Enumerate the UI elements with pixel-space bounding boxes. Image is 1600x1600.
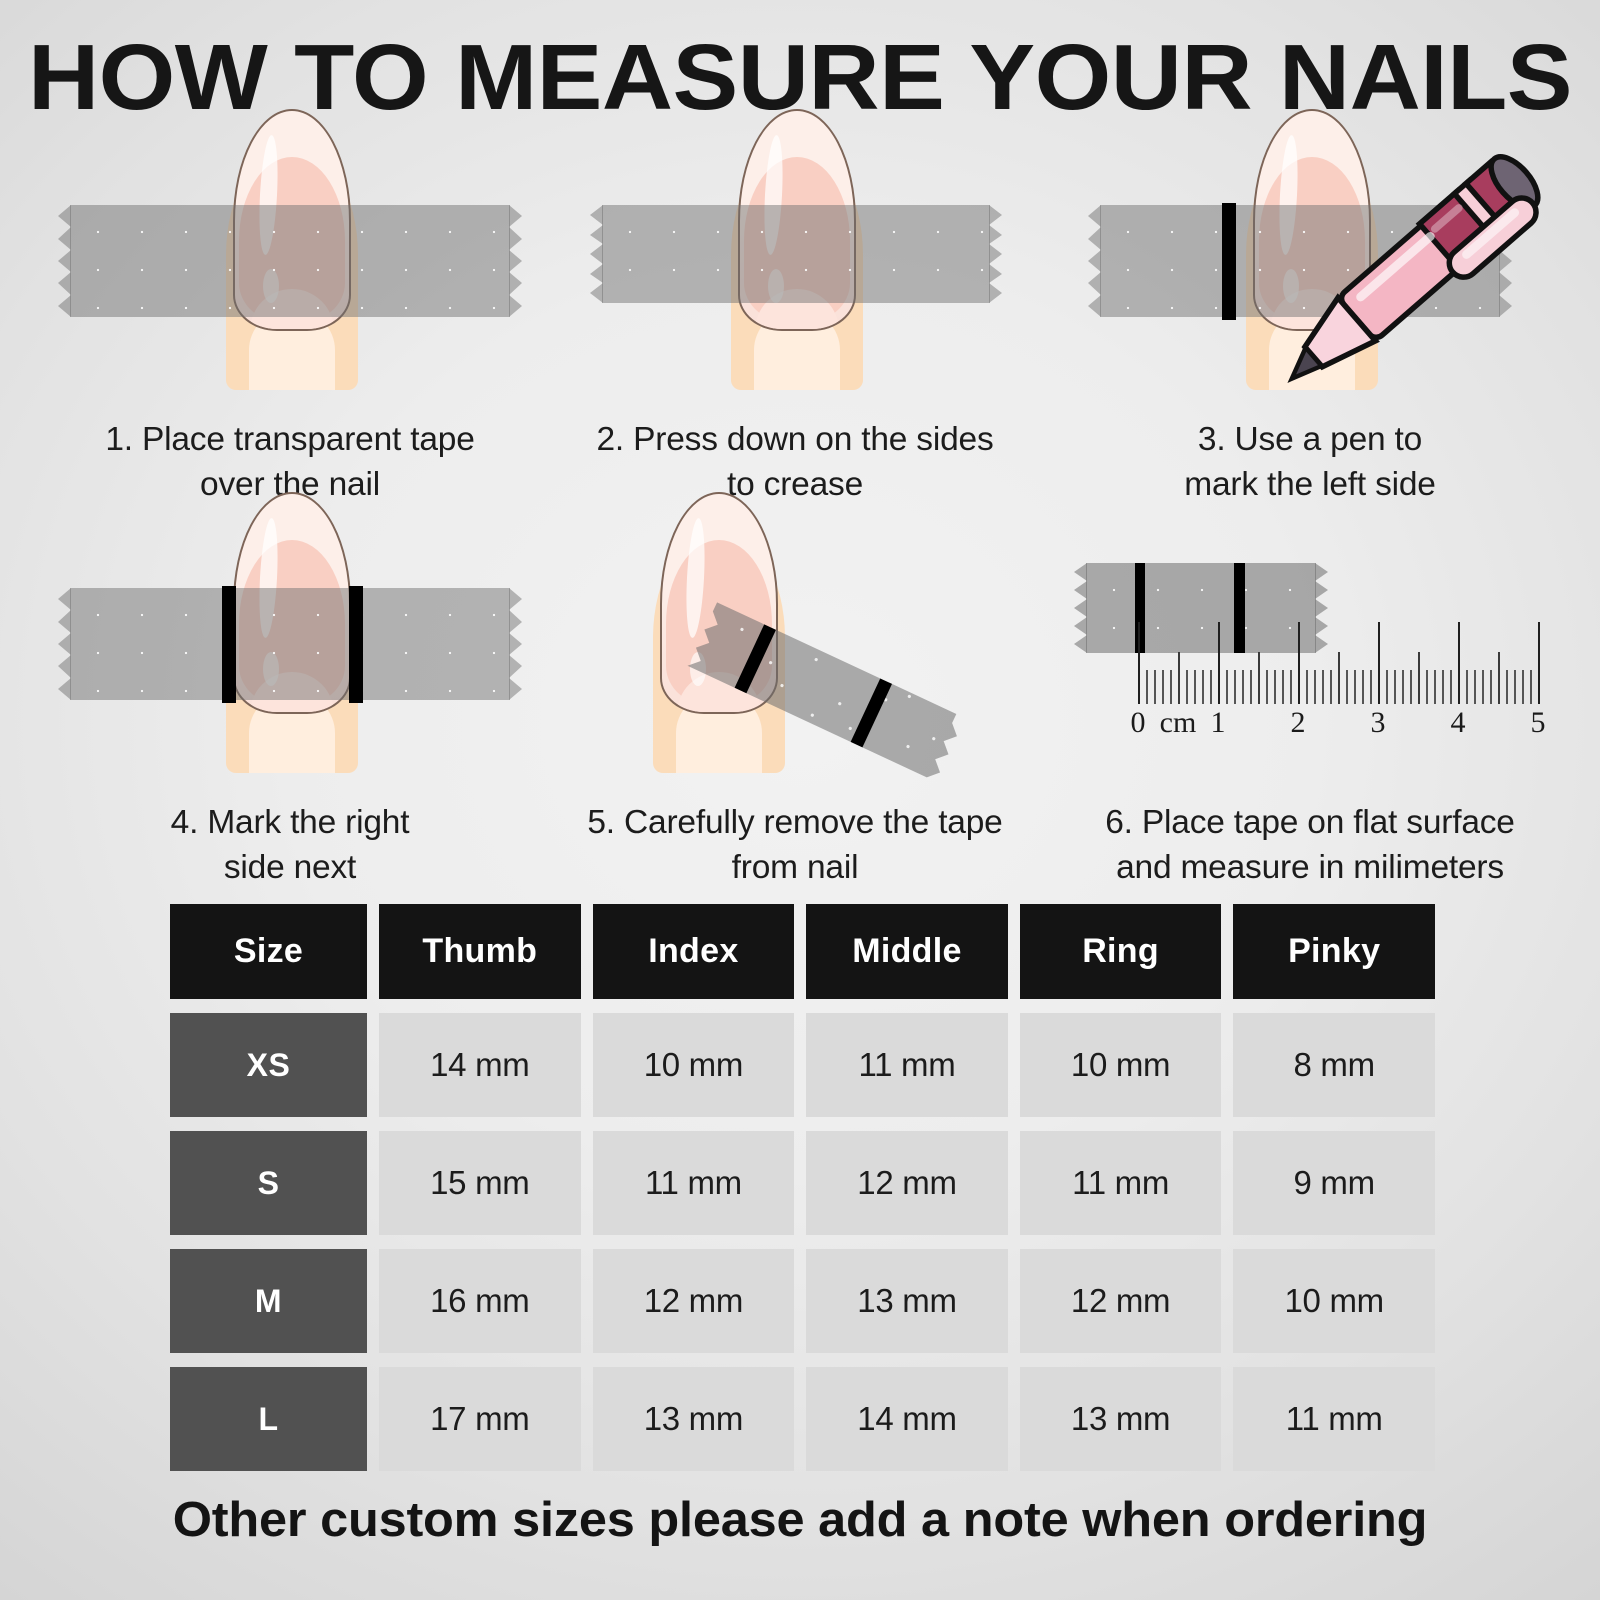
tape-strip — [70, 588, 510, 700]
table-header-index: Index — [593, 904, 795, 999]
ruler-number-3: 3 — [1371, 706, 1386, 740]
cell-m-middle: 13 mm — [806, 1249, 1008, 1353]
ruler-tick — [1514, 670, 1516, 704]
cell-m-index: 12 mm — [593, 1249, 795, 1353]
ruler-tick — [1290, 670, 1292, 704]
pen-mark-left — [222, 586, 236, 703]
ruler-tick — [1426, 670, 1428, 704]
ruler-tick — [1378, 622, 1380, 704]
cell-l-thumb: 17 mm — [379, 1367, 581, 1471]
cell-s-thumb: 15 mm — [379, 1131, 581, 1235]
tape-zigzag-right — [509, 205, 522, 317]
ruler-tick — [1218, 622, 1220, 704]
tape-zigzag-right — [509, 588, 522, 700]
ruler-tick — [1370, 670, 1372, 704]
tape-strip-peeled — [625, 538, 1025, 838]
cell-m-thumb: 16 mm — [379, 1249, 581, 1353]
step-2-illustration — [545, 125, 1045, 415]
step-3-caption: 3. Use a pen tomark the left side — [1060, 417, 1560, 507]
ruler-tick — [1330, 670, 1332, 704]
cell-s-pinky: 9 mm — [1233, 1131, 1435, 1235]
step-3: 3. Use a pen tomark the left side — [1060, 125, 1560, 415]
ruler-tick — [1298, 622, 1300, 704]
cell-s-index: 11 mm — [593, 1131, 795, 1235]
ruler-tick — [1346, 670, 1348, 704]
tape-texture — [602, 205, 990, 303]
step-3-illustration — [1060, 125, 1560, 415]
cell-m-ring: 12 mm — [1020, 1249, 1222, 1353]
ruler-tick — [1506, 670, 1508, 704]
ruler-tick — [1234, 670, 1236, 704]
step-6-caption: 6. Place tape on flat surfaceand measure… — [1060, 800, 1560, 890]
tape-strip-creased — [602, 205, 990, 303]
ruler-tick — [1482, 670, 1484, 704]
ruler-tick — [1154, 670, 1156, 704]
table-header-pinky: Pinky — [1233, 904, 1435, 999]
ruler-unit-label: cm — [1160, 706, 1197, 740]
ruler-ticks — [1138, 622, 1538, 704]
ruler-tick — [1186, 670, 1188, 704]
ruler-number-1: 1 — [1211, 706, 1226, 740]
ruler-tick — [1202, 670, 1204, 704]
tape-body — [687, 602, 965, 781]
ruler-tick — [1306, 670, 1308, 704]
table-row: XS14 mm10 mm11 mm10 mm8 mm — [170, 1013, 1435, 1117]
cell-xs-middle: 11 mm — [806, 1013, 1008, 1117]
table-header-thumb: Thumb — [379, 904, 581, 999]
ruler-tick — [1418, 652, 1420, 704]
ruler-tick — [1250, 670, 1252, 704]
table-header-row: SizeThumbIndexMiddleRingPinky — [170, 904, 1435, 999]
ruler-tick — [1538, 622, 1540, 704]
ruler-tick — [1450, 670, 1452, 704]
cell-xs-pinky: 8 mm — [1233, 1013, 1435, 1117]
ruler-tick — [1266, 670, 1268, 704]
ruler-tick — [1402, 670, 1404, 704]
ruler-tick — [1162, 670, 1164, 704]
tape-zigzag-left — [1074, 563, 1087, 653]
step-5-illustration — [545, 508, 1045, 798]
step-1: 1. Place transparent tapeover the nail — [40, 125, 540, 415]
step-5-caption: 5. Carefully remove the tapefrom nail — [545, 800, 1045, 890]
ruler-tick — [1138, 622, 1140, 704]
ruler-tick — [1490, 670, 1492, 704]
pen-icon — [1238, 117, 1568, 447]
ruler-tick — [1210, 670, 1212, 704]
ruler-tick — [1338, 652, 1340, 704]
step-6: 012345cm 6. Place tape on flat surfacean… — [1060, 508, 1560, 798]
ruler-tick — [1386, 670, 1388, 704]
table-row: M16 mm12 mm13 mm12 mm10 mm — [170, 1249, 1435, 1353]
ruler-tick — [1442, 670, 1444, 704]
ruler-tick — [1274, 670, 1276, 704]
step-4: 4. Mark the rightside next — [40, 508, 540, 798]
step-6-illustration: 012345cm — [1060, 508, 1560, 798]
step-1-illustration — [40, 125, 540, 415]
tape-strip — [70, 205, 510, 317]
ruler-tick — [1194, 670, 1196, 704]
size-label-l: L — [170, 1367, 367, 1471]
ruler-tick — [1498, 652, 1500, 704]
cell-l-pinky: 11 mm — [1233, 1367, 1435, 1471]
ruler-tick — [1434, 670, 1436, 704]
ruler-tick — [1410, 670, 1412, 704]
table-header-size: Size — [170, 904, 367, 999]
pen-mark-right — [349, 586, 363, 703]
cell-xs-thumb: 14 mm — [379, 1013, 581, 1117]
size-label-s: S — [170, 1131, 367, 1235]
cell-xs-ring: 10 mm — [1020, 1013, 1222, 1117]
tape-zigzag-left — [590, 205, 603, 303]
cell-s-ring: 11 mm — [1020, 1131, 1222, 1235]
ruler-tick — [1458, 622, 1460, 704]
step-4-illustration — [40, 508, 540, 798]
tape-texture — [70, 588, 510, 700]
cell-xs-index: 10 mm — [593, 1013, 795, 1117]
footer-note: Other custom sizes please add a note whe… — [0, 1492, 1600, 1548]
tape-zigzag-left — [58, 205, 71, 317]
ruler-number-4: 4 — [1451, 706, 1466, 740]
ruler: 012345cm — [1138, 620, 1558, 740]
size-chart-table: SizeThumbIndexMiddleRingPinky XS14 mm10 … — [170, 904, 1435, 1485]
tape-texture — [70, 205, 510, 317]
ruler-tick — [1530, 670, 1532, 704]
ruler-tick — [1146, 670, 1148, 704]
step-2: 2. Press down on the sidesto crease — [545, 125, 1045, 415]
ruler-tick — [1170, 670, 1172, 704]
table-row: L17 mm13 mm14 mm13 mm11 mm — [170, 1367, 1435, 1471]
size-label-m: M — [170, 1249, 367, 1353]
table-header-middle: Middle — [806, 904, 1008, 999]
tape-zigzag-left — [1088, 205, 1101, 317]
ruler-tick — [1466, 670, 1468, 704]
table-header-ring: Ring — [1020, 904, 1222, 999]
step-4-caption: 4. Mark the rightside next — [40, 800, 540, 890]
ruler-numbers: 012345cm — [1138, 706, 1538, 742]
ruler-tick — [1314, 670, 1316, 704]
ruler-tick — [1242, 670, 1244, 704]
tape-zigzag-left — [58, 588, 71, 700]
cell-l-ring: 13 mm — [1020, 1367, 1222, 1471]
ruler-tick — [1394, 670, 1396, 704]
ruler-number-0: 0 — [1131, 706, 1146, 740]
tape-zigzag-right — [989, 205, 1002, 303]
ruler-number-5: 5 — [1531, 706, 1546, 740]
ruler-tick — [1282, 670, 1284, 704]
step-2-caption: 2. Press down on the sidesto crease — [545, 417, 1045, 507]
ruler-tick — [1226, 670, 1228, 704]
infographic-page: HOW TO MEASURE YOUR NAILS 1. Place trans… — [0, 0, 1600, 1600]
ruler-tick — [1258, 652, 1260, 704]
cell-m-pinky: 10 mm — [1233, 1249, 1435, 1353]
ruler-tick — [1354, 670, 1356, 704]
size-label-xs: XS — [170, 1013, 367, 1117]
cell-s-middle: 12 mm — [806, 1131, 1008, 1235]
table-body: XS14 mm10 mm11 mm10 mm8 mmS15 mm11 mm12 … — [170, 1013, 1435, 1471]
ruler-number-2: 2 — [1291, 706, 1306, 740]
table-row: S15 mm11 mm12 mm11 mm9 mm — [170, 1131, 1435, 1235]
ruler-tick — [1322, 670, 1324, 704]
ruler-tick — [1362, 670, 1364, 704]
ruler-tick — [1522, 670, 1524, 704]
pen-mark-left — [1222, 203, 1236, 320]
ruler-tick — [1178, 652, 1180, 704]
ruler-tick — [1474, 670, 1476, 704]
cell-l-middle: 14 mm — [806, 1367, 1008, 1471]
step-5: 5. Carefully remove the tapefrom nail — [545, 508, 1045, 798]
cell-l-index: 13 mm — [593, 1367, 795, 1471]
